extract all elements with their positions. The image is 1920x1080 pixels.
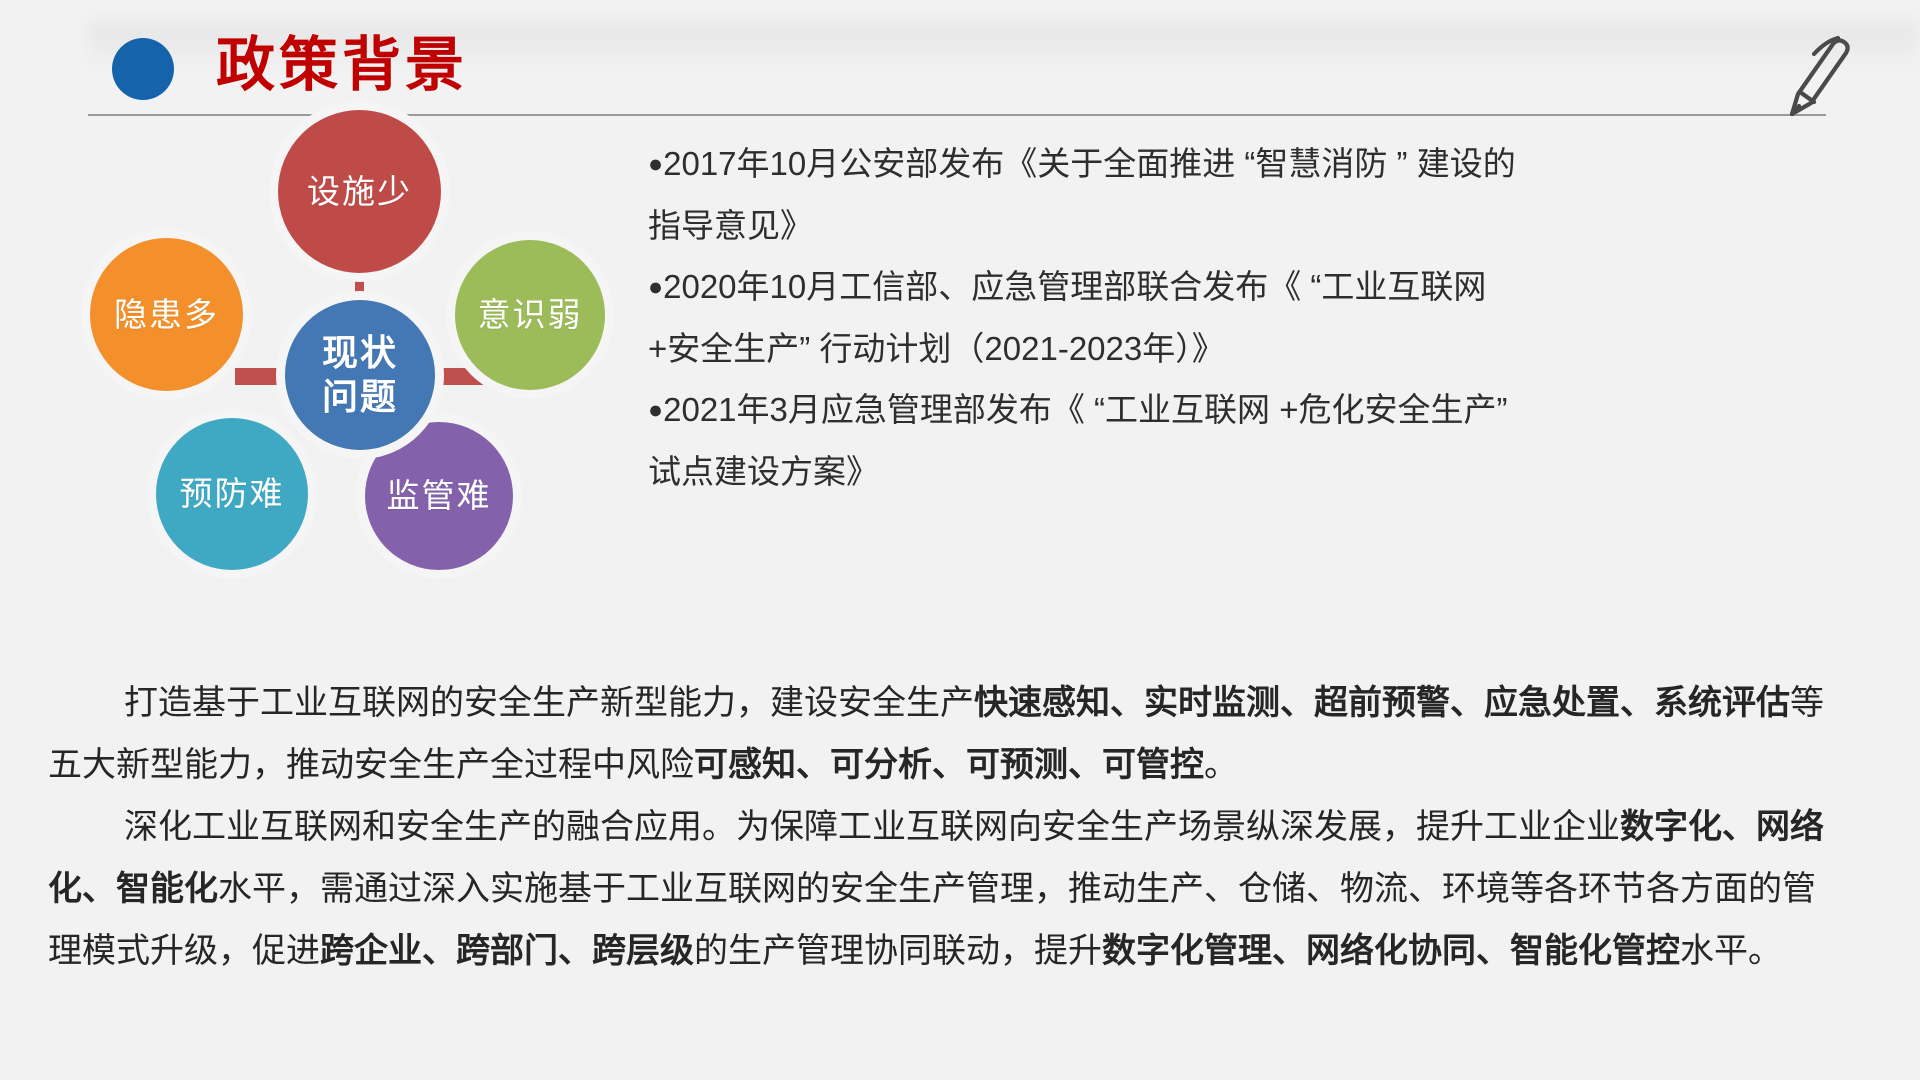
body-paragraphs: 打造基于工业互联网的安全生产新型能力，建设安全生产快速感知、实时监测、超前预警、… [48,672,1838,982]
status-problem-diagram: 设施少 隐患多 意识弱 预防难 监管难 现状 问题 [80,110,660,670]
diagram-node-label: 设施少 [307,171,412,213]
bullet-marker-icon: ● [648,273,663,301]
diagram-node-hazards[interactable]: 隐患多 [90,238,243,391]
bullet-marker-icon: ● [648,150,663,178]
diagram-center-label: 现状 问题 [322,331,398,419]
policy-bullet-list: ●2017年10月公安部发布《关于全面推进 “智慧消防 ” 建设的指导意见》●2… [648,133,1538,502]
emphasis-text: 数字化管理、网络化协同、智能化管控 [1102,932,1680,970]
diagram-node-prevention[interactable]: 预防难 [156,418,308,570]
slide-header: 政策背景 [0,0,1920,128]
policy-bullet-text: 2017年10月公安部发布《关于全面推进 “智慧消防 ” 建设的指导意见》 [648,145,1516,244]
plain-text: 打造基于工业互联网的安全生产新型能力，建设安全生产 [124,684,974,722]
emphasis-text: 可感知、可分析、可预测、可管控 [694,746,1204,784]
plain-text: 的生产管理协同联动，提升 [694,932,1102,970]
slide-canvas: 政策背景 设施少 隐患多 意识弱 预防难 监管难 [0,0,1920,1080]
diagram-node-label: 预防难 [180,473,285,515]
plain-text: 深化工业互联网和安全生产的融合应用。为保障工业互联网向安全生产场景纵深发展，提升… [124,808,1620,846]
policy-bullet-item: ●2020年10月工信部、应急管理部联合发布《 “工业互联网+安全生产” 行动计… [648,256,1538,379]
policy-bullet-item: ●2017年10月公安部发布《关于全面推进 “智慧消防 ” 建设的指导意见》 [648,133,1538,256]
diagram-node-center[interactable]: 现状 问题 [285,300,435,450]
header-bullet-circle [112,38,174,100]
plain-text: 。 [1204,746,1238,784]
policy-bullet-item: ●2021年3月应急管理部发布《 “工业互联网 +危化安全生产” 试点建设方案》 [648,379,1538,502]
bullet-marker-icon: ● [648,396,663,424]
diagram-node-facilities[interactable]: 设施少 [278,110,441,273]
diagram-node-awareness[interactable]: 意识弱 [455,240,605,390]
diagram-node-label: 监管难 [387,475,492,517]
emphasis-text: 跨企业、跨部门、跨层级 [320,932,694,970]
emphasis-text: 快速感知、实时监测、超前预警、应急处置、系统评估 [974,684,1790,722]
policy-bullet-text: 2020年10月工信部、应急管理部联合发布《 “工业互联网+安全生产” 行动计划… [648,268,1486,367]
pen-icon [1770,28,1860,120]
diagram-node-label: 意识弱 [478,294,583,336]
body-paragraph: 深化工业互联网和安全生产的融合应用。为保障工业互联网向安全生产场景纵深发展，提升… [48,796,1838,982]
body-paragraph: 打造基于工业互联网的安全生产新型能力，建设安全生产快速感知、实时监测、超前预警、… [48,672,1838,796]
plain-text: 水平。 [1680,932,1782,970]
policy-bullet-text: 2021年3月应急管理部发布《 “工业互联网 +危化安全生产” 试点建设方案》 [648,391,1507,490]
diagram-node-label: 隐患多 [114,294,219,336]
page-title: 政策背景 [216,27,468,103]
